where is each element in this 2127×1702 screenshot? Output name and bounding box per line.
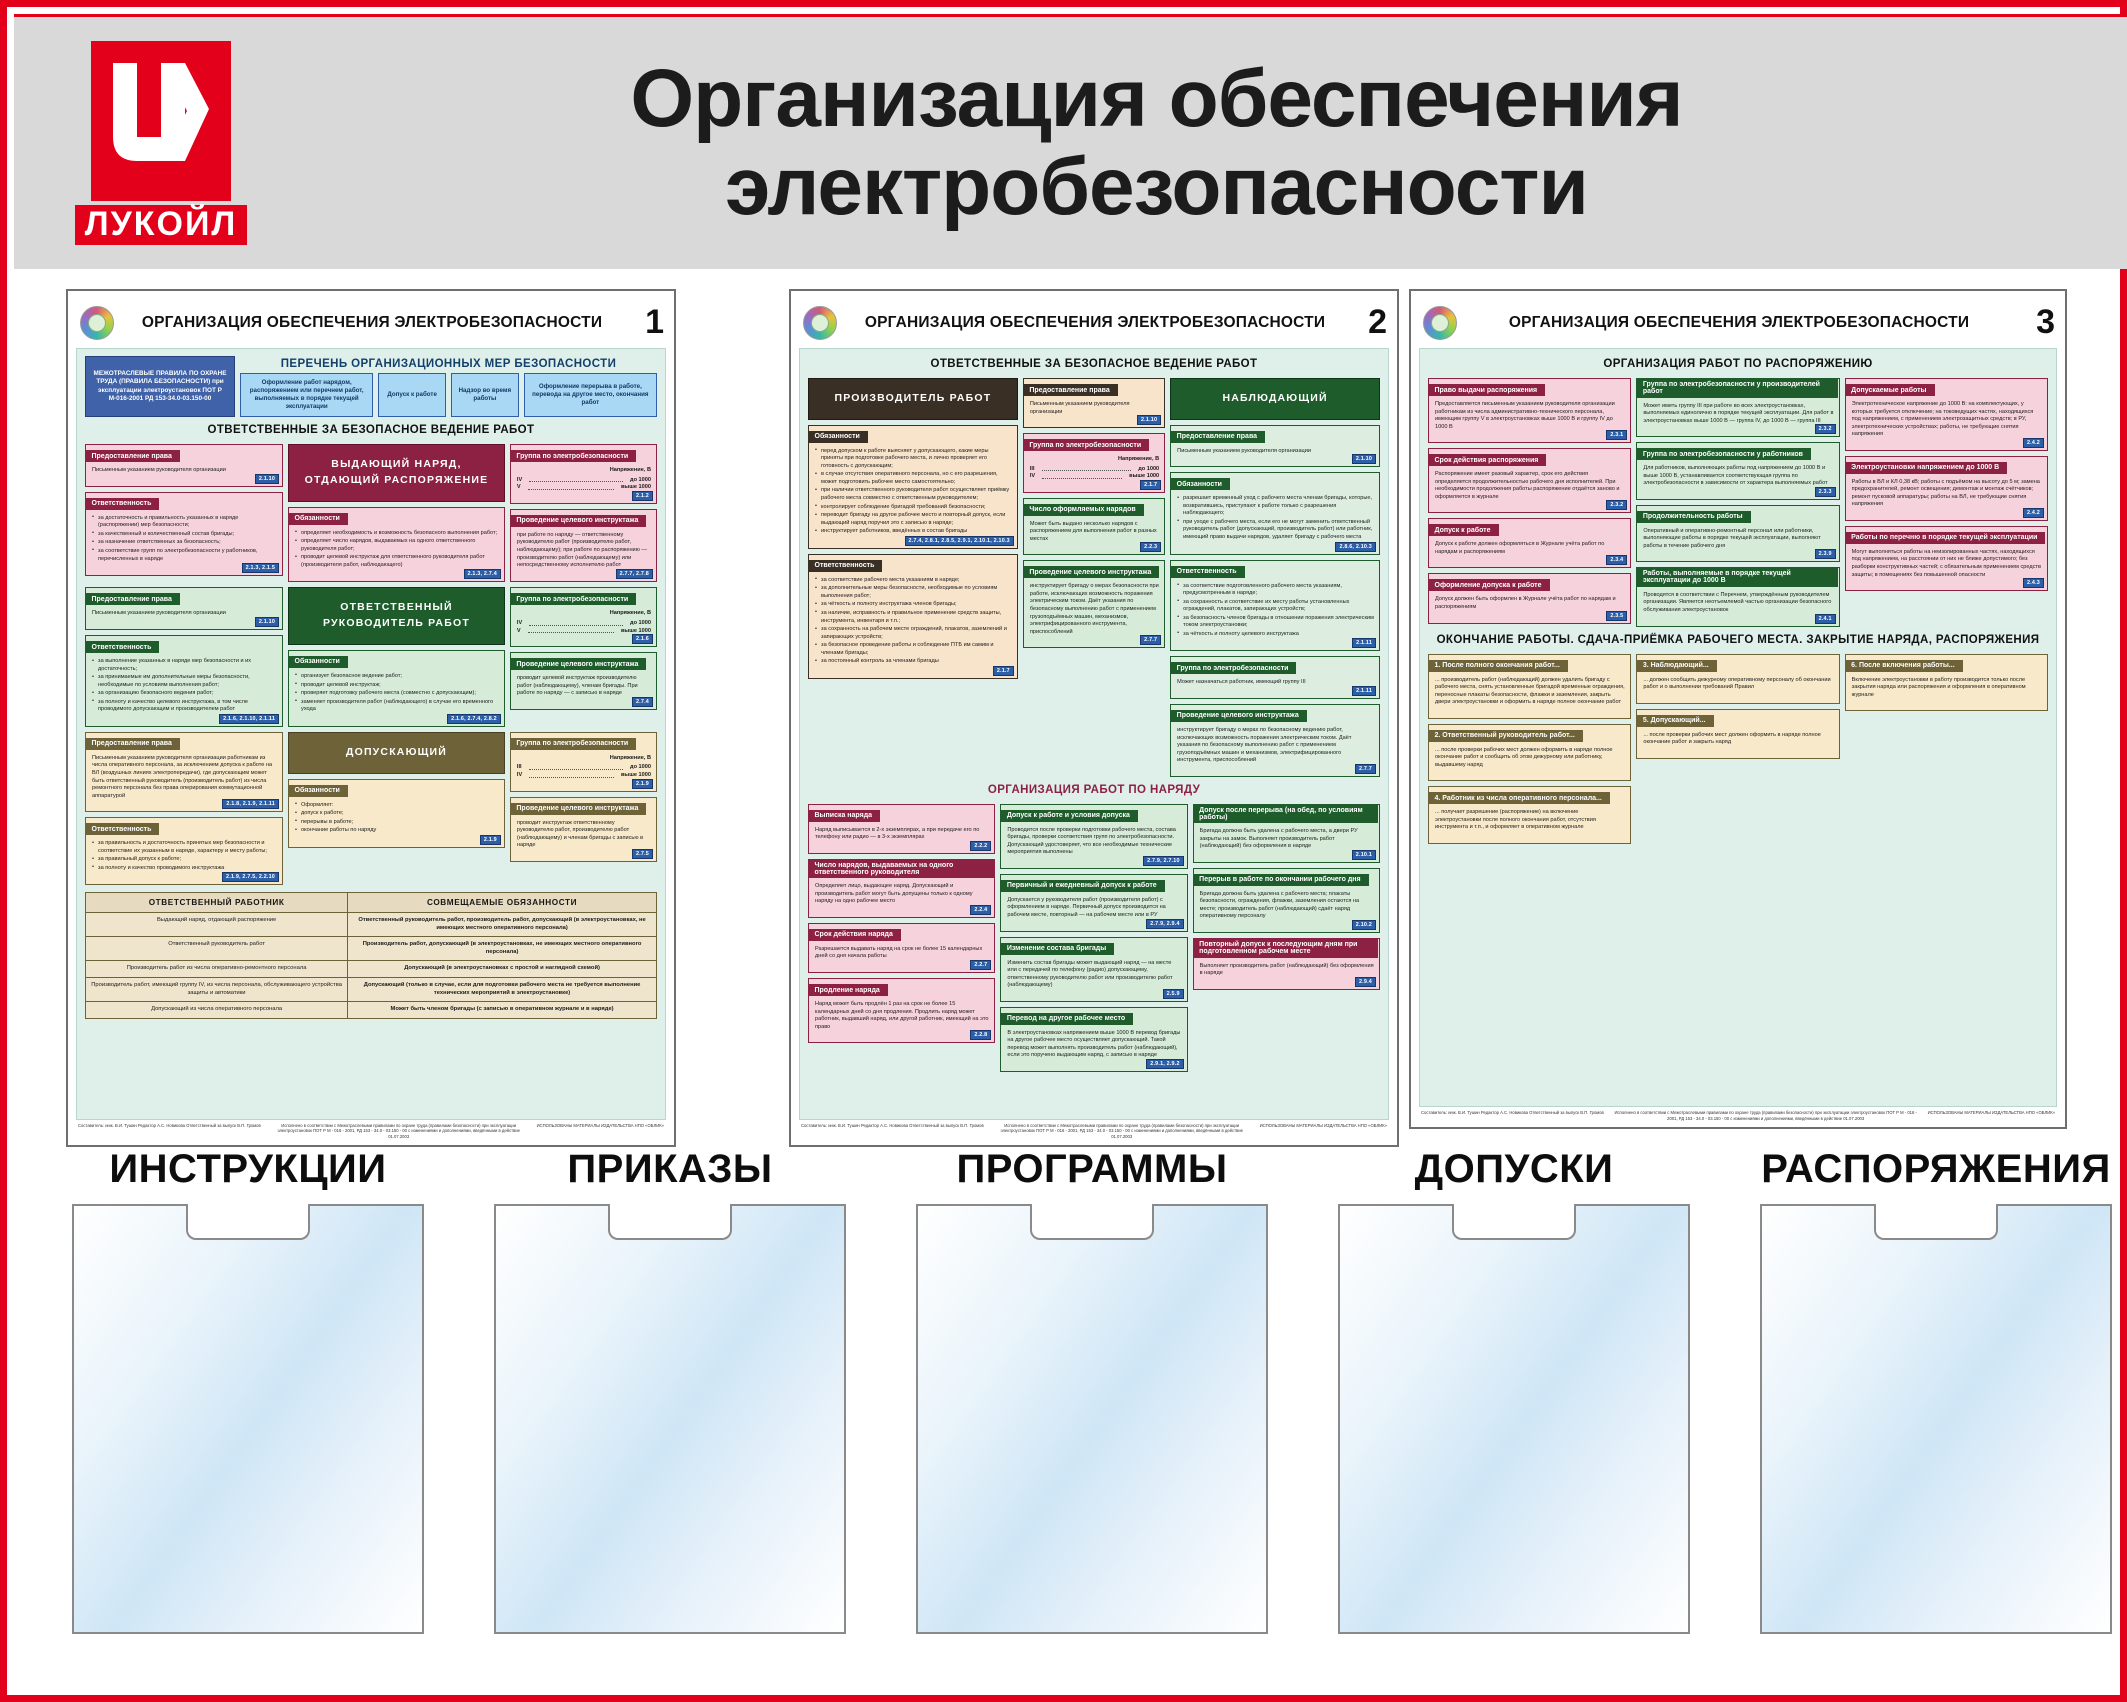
- list-item: Оформляет:: [295, 802, 499, 810]
- group-card: Группа по электробезопасности Может назн…: [1170, 656, 1380, 699]
- card-header: Допускаемые работы: [1845, 384, 1934, 396]
- clause-ref: 2.1.6, 2.1.10, 2.1.11: [219, 714, 279, 724]
- card-header: 5. Допускающий...: [1637, 715, 1714, 727]
- card-body: Распоряжение имеет разовый характер, сро…: [1429, 467, 1630, 512]
- clause-ref: 2.4.2: [2023, 438, 2044, 448]
- combined-duties-table: ОТВЕТСТВЕННЫЙ РАБОТНИК СОВМЕЩАЕМЫЕ ОБЯЗА…: [85, 892, 657, 1018]
- table-header-cell: СОВМЕЩАЕМЫЕ ОБЯЗАННОСТИ: [348, 893, 656, 912]
- pocket-label: ИНСТРУКЦИИ: [72, 1147, 424, 1192]
- list-item: разрешает временный уход с рабочего мест…: [1177, 495, 1374, 518]
- card-body: Могут выполняться работы на неизолирован…: [1846, 545, 2047, 590]
- pocket-slot[interactable]: [1760, 1204, 2112, 1634]
- card-header: Проведение целевого инструктажа: [1171, 710, 1307, 722]
- rasp-card: Право выдачи распоряжения Предоставляетс…: [1428, 378, 1631, 443]
- footer-regulation: Исполнено в соответствии с Межотраслевым…: [261, 1123, 537, 1139]
- end-card: 1. После полного окончания работ... ... …: [1428, 654, 1631, 719]
- card-header: Группа по электробезопасности: [510, 738, 636, 750]
- list-item: за полноту и качество проводимого инстру…: [92, 865, 277, 873]
- role-block: Предоставление права Письменным указание…: [85, 444, 657, 582]
- briefing-card: Проведение целевого инструктажа инструкт…: [1023, 560, 1165, 648]
- rasp-card: Срок действия распоряжения Распоряжение …: [1428, 448, 1631, 513]
- poster-3-footer: Составитель: инж. В.И. Тушин Редактор А.…: [1419, 1107, 2057, 1121]
- end-card: 2. Ответственный руководитель работ... .…: [1428, 724, 1631, 782]
- right-card: Предоставление права Письменным указание…: [1170, 425, 1380, 468]
- card-header: Электроустановки напряжением до 1000 В: [1845, 462, 2007, 474]
- card-body: ... производитель работ (наблюдающий) до…: [1429, 673, 1630, 718]
- card-body: Проводятся в соответствии с Перечнем, ут…: [1637, 588, 1838, 626]
- clause-ref: 2.9.4: [1355, 977, 1376, 987]
- poster-1-head: ОРГАНИЗАЦИЯ ОБЕСПЕЧЕНИЯ ЭЛЕКТРОБЕЗОПАСНО…: [76, 299, 666, 348]
- clause-ref: 2.10.2: [1352, 920, 1376, 930]
- clause-ref: 2.1.3, 2.1.5: [242, 563, 279, 573]
- list-item: за чёткость и полноту инструктажа членов…: [815, 601, 1012, 609]
- group-voltage: до 1000: [1138, 466, 1159, 474]
- measure-item: Оформление работ нарядом, распоряжением …: [240, 373, 373, 417]
- pocket-label: ПРИКАЗЫ: [494, 1147, 846, 1192]
- footer-credits: Составитель: инж. В.И. Тушин Редактор А.…: [1421, 1110, 1604, 1115]
- card-header: 2. Ответственный руководитель работ...: [1429, 730, 1583, 742]
- clause-ref: 2.2.7: [970, 960, 991, 970]
- poster-2-title: ОРГАНИЗАЦИЯ ОБЕСПЕЧЕНИЯ ЭЛЕКТРОБЕЗОПАСНО…: [847, 314, 1343, 332]
- clause-ref: 2.3.3: [1815, 487, 1836, 497]
- clause-ref: 2.10.1: [1352, 850, 1376, 860]
- footer-credits: Составитель: инж. В.И. Тушин Редактор А.…: [801, 1123, 984, 1128]
- clause-ref: 2.4.2: [2023, 508, 2044, 518]
- naryad-card: Допуск после перерыва (на обед, по услов…: [1193, 804, 1380, 863]
- card-header: 6. После включения работы...: [1845, 660, 1963, 672]
- right-card: Предоставление права Письменным указание…: [85, 444, 283, 487]
- table-header-cell: ОТВЕТСТВЕННЫЙ РАБОТНИК: [86, 893, 348, 912]
- briefing-card: Проведение целевого инструктажа при рабо…: [510, 509, 657, 582]
- group-roman: V: [517, 628, 521, 636]
- rasporyazhenie-title: ОРГАНИЗАЦИЯ РАБОТ ПО РАСПОРЯЖЕНИЮ: [1428, 356, 2048, 373]
- pocket-slot[interactable]: [1338, 1204, 1690, 1634]
- card-header: Допуск к работе: [1429, 524, 1499, 536]
- clause-ref: 2.3.5: [1606, 611, 1627, 621]
- rasp-card: Допуск к работе Допуск к работе должен о…: [1428, 518, 1631, 568]
- board-header: ЛУКОЙЛ Организация обеспечения электробе…: [14, 14, 2127, 269]
- clause-ref: 2.1.6: [632, 634, 653, 644]
- clause-ref: 2.2.8: [970, 1030, 991, 1040]
- responsibility-list: за соответствие подготовленного рабочего…: [1177, 583, 1374, 639]
- rasp-card: Группа по электробезопасности у производ…: [1636, 378, 1839, 437]
- naryad-section-title: ОРГАНИЗАЦИЯ РАБОТ ПО НАРЯДУ: [808, 782, 1380, 799]
- footer-credits: Составитель: инж. В.И. Тушин Редактор А.…: [78, 1123, 261, 1128]
- poster-2-head: ОРГАНИЗАЦИЯ ОБЕСПЕЧЕНИЯ ЭЛЕКТРОБЕЗОПАСНО…: [799, 299, 1389, 348]
- list-item: перерывы в работе;: [295, 819, 499, 827]
- poster-2[interactable]: ОРГАНИЗАЦИЯ ОБЕСПЕЧЕНИЯ ЭЛЕКТРОБЕЗОПАСНО…: [789, 289, 1399, 1147]
- end-card: 4. Работник из числа оперативного персон…: [1428, 786, 1631, 844]
- clause-ref: 2.7.7, 2.7.8: [616, 569, 653, 579]
- list-item: за чёткость и полноту целевого инструкта…: [1177, 631, 1374, 639]
- card-header: Группа по электробезопасности: [510, 450, 636, 462]
- table-cell: Производитель работ, допускающий (в элек…: [348, 937, 656, 960]
- role-bar: ОТВЕТСТВЕННЫЙ РУКОВОДИТЕЛЬ РАБОТ: [288, 587, 505, 645]
- card-header: Число нарядов, выдаваемых на одного отве…: [809, 859, 994, 878]
- rasp-card: Группа по электробезопасности у работник…: [1636, 442, 1839, 500]
- end-of-work-grid: 1. После полного окончания работ... ... …: [1428, 654, 2048, 844]
- rasp-card: Оформление допуска к работе Допуск долже…: [1428, 573, 1631, 623]
- list-item: при уходе с рабочего места, если его не …: [1177, 519, 1374, 542]
- clause-ref: 2.1.9, 2.7.5, 2.2.10: [222, 872, 279, 882]
- card-header: Проведение целевого инструктажа: [510, 515, 646, 527]
- footer-publisher: ИСПОЛЬЗОВАНЫ МАТЕРИАЛЫ ИЗДАТЕЛЬСТВА НПО …: [1928, 1110, 2055, 1115]
- clause-ref: 2.1.10: [1137, 415, 1161, 425]
- card-header: Обязанности: [289, 513, 348, 525]
- list-item: за безопасность членов бригады в отношен…: [1177, 615, 1374, 630]
- list-item: за безопасное проведение работы и соблюд…: [815, 642, 1012, 657]
- list-item: за сохранность на рабочем месте огражден…: [815, 626, 1012, 641]
- responsibility-list: за правильность и достаточность принятых…: [92, 840, 277, 872]
- clause-ref: 2.7.7: [1355, 764, 1376, 774]
- duties-card: Обязанности организует безопасное ведени…: [288, 650, 505, 727]
- list-item: за полноту и качество целевого инструкта…: [92, 699, 277, 714]
- naryad-card: Перевод на другое рабочее место В электр…: [1000, 1007, 1187, 1072]
- naryad-card: Перерыв в работе по окончании рабочего д…: [1193, 868, 1380, 933]
- list-item: инструктирует работников, введённых в со…: [815, 528, 1012, 536]
- clause-ref: 2.9.1, 2.9.2: [1146, 1059, 1183, 1069]
- card-header: Проведение целевого инструктажа: [510, 803, 646, 815]
- table-cell: Допускающий из числа оперативного персон…: [86, 1002, 348, 1018]
- card-header: Выписка наряда: [809, 810, 881, 822]
- table-cell: Производитель работ из числа оперативно-…: [86, 961, 348, 977]
- clause-ref: 2.1.10: [255, 474, 279, 484]
- rasporyazhenie-grid: Право выдачи распоряжения Предоставляетс…: [1428, 378, 2048, 627]
- card-body: Письменным указанием руководителя органи…: [86, 606, 282, 629]
- group-roman: IV: [517, 772, 522, 780]
- list-item: организует безопасное ведение работ;: [295, 673, 499, 681]
- role-bar: ПРОИЗВОДИТЕЛЬ РАБОТ: [808, 378, 1018, 420]
- responsibility-list: за выполнение указанных в наряде мер без…: [92, 658, 277, 714]
- end-card: 6. После включения работы... Включение э…: [1845, 654, 2048, 712]
- card-body: Письменным указанием руководителя органи…: [1171, 444, 1379, 467]
- clause-ref: 2.3.1: [1606, 430, 1627, 440]
- responsibility-list: за достаточность и правильность указанны…: [92, 515, 277, 563]
- card-header: Проведение целевого инструктажа: [1023, 566, 1159, 578]
- card-body: Разрешается выдавать наряд на срок не бо…: [809, 942, 994, 972]
- card-header: Группа по электробезопасности: [1171, 662, 1297, 674]
- group-card: Группа по электробезопасности Напряжение…: [1023, 433, 1165, 493]
- card-header: Обязанности: [289, 785, 348, 797]
- safety-emblem-icon: [1423, 306, 1457, 340]
- rasp-card: Продолжительность работы Оперативный и о…: [1636, 505, 1839, 563]
- card-body: Допуск к работе должен оформляться в Жур…: [1429, 537, 1630, 567]
- role-block: Предоставление права Письменным указание…: [85, 587, 657, 726]
- card-header: 4. Работник из числа оперативного персон…: [1429, 792, 1610, 804]
- card-header: Допуск после перерыва (на обед, по услов…: [1193, 804, 1378, 823]
- safety-emblem-icon: [80, 306, 114, 340]
- card-header: Перерыв в работе по окончании рабочего д…: [1193, 874, 1368, 886]
- card-header: Группа по электробезопасности: [510, 593, 636, 605]
- card-body: Может назначаться работник, имеющий груп…: [1171, 675, 1379, 698]
- clause-ref: 2.7.9, 2.9.4: [1146, 919, 1183, 929]
- list-item: за организацию безопасного ведения работ…: [92, 690, 277, 698]
- clause-ref: 2.4.3: [2023, 578, 2044, 588]
- clause-ref: 2.7.9, 2.7.10: [1143, 856, 1184, 866]
- voltage-label: Напряжение, В: [517, 610, 651, 618]
- list-item: за сохранность и соответствие их месту р…: [1177, 599, 1374, 614]
- list-item: за выполнение указанных в наряде мер без…: [92, 658, 277, 673]
- clause-ref: 2.8.6, 2.10.3: [1335, 542, 1376, 552]
- list-item: в случае отсутствия оперативного персона…: [815, 471, 1012, 486]
- measure-item: Допуск к работе: [378, 373, 446, 417]
- naryad-card: Первичный и ежедневный допуск к работе Д…: [1000, 874, 1187, 932]
- rasp-card: Допускаемые работы Электротехническое на…: [1845, 378, 2048, 451]
- measures-row: МЕЖОТРАСЛЕВЫЕ ПРАВИЛА ПО ОХРАНЕ ТРУДА (П…: [85, 356, 657, 417]
- card-body: Допуск должен быть оформлен в Журнале уч…: [1429, 592, 1630, 622]
- card-header: Продление наряда: [809, 984, 888, 996]
- list-item: определяет число нарядов, выдаваемых на …: [295, 538, 499, 553]
- responsibility-card: Ответственность за выполнение указанных …: [85, 635, 283, 727]
- naryad-card: Повторный допуск к последующим дням при …: [1193, 938, 1380, 990]
- card-body: Определяет лицо, выдающее наряд. Допуска…: [809, 879, 994, 917]
- card-body: Работы в ВЛ и КЛ 0,38 кВ; работы с подъё…: [1846, 475, 2047, 520]
- safety-emblem-icon: [803, 306, 837, 340]
- page-title-line-1: Организация обеспечения: [276, 55, 2037, 143]
- group-roman: V: [517, 484, 521, 492]
- clause-ref: 2.1.3, 2.7.4: [464, 569, 501, 579]
- duties-list: перед допуском к работе выясняет у допус…: [815, 448, 1012, 536]
- duties-card: Обязанности Оформляет: допуск к работе; …: [288, 779, 505, 848]
- group-card: Группа по электробезопасности Напряжение…: [510, 587, 657, 647]
- card-header: Ответственность: [86, 641, 160, 653]
- footer-regulation: Исполнено в соответствии с Межотраслевым…: [1604, 1110, 1928, 1121]
- table-cell: Ответственный руководитель работ, произв…: [348, 913, 656, 936]
- naryad-card: Срок действия наряда Разрешается выдават…: [808, 923, 995, 973]
- list-item: определяет необходимость и возможность б…: [295, 530, 499, 538]
- list-item: допуск к работе;: [295, 810, 499, 818]
- right-card: Предоставление права Письменным указание…: [1023, 378, 1165, 428]
- responsibility-card: Ответственность за соответствие подготов…: [1170, 560, 1380, 652]
- list-item: за дополнительные меры безопасности, нео…: [815, 585, 1012, 600]
- list-item: за соответствие подготовленного рабочего…: [1177, 583, 1374, 598]
- poster-1[interactable]: ОРГАНИЗАЦИЯ ОБЕСПЕЧЕНИЯ ЭЛЕКТРОБЕЗОПАСНО…: [66, 289, 676, 1147]
- card-header: Первичный и ежедневный допуск к работе: [1001, 880, 1165, 892]
- clause-ref: 2.4.1: [1815, 614, 1836, 624]
- table-row: Производитель работ, имеющий группу IV, …: [86, 978, 656, 1002]
- page-title: Организация обеспечения электробезопасно…: [276, 55, 2127, 230]
- pocket-slot[interactable]: [72, 1204, 424, 1634]
- clause-ref: 2.7.5: [632, 849, 653, 859]
- table-cell: Ответственный руководитель работ: [86, 937, 348, 960]
- clause-ref: 2.1.10: [255, 617, 279, 627]
- naryad-grid: Выписка наряда Наряд выписывается в 2-х …: [808, 804, 1380, 1072]
- card-header: 3. Наблюдающий...: [1637, 660, 1717, 672]
- clause-ref: 2.1.8, 2.1.9, 2.1.11: [222, 799, 279, 809]
- right-card: Предоставление права Письменным указание…: [85, 732, 283, 812]
- list-item: при наличии ответственного руководителя …: [815, 487, 1012, 502]
- lukoil-logo-mark: [91, 41, 231, 201]
- card-header: Проведение целевого инструктажа: [510, 658, 646, 670]
- pocket-label: ДОПУСКИ: [1338, 1147, 1690, 1192]
- clause-ref: 2.1.10: [1352, 454, 1376, 464]
- poster-3-title: ОРГАНИЗАЦИЯ ОБЕСПЕЧЕНИЯ ЭЛЕКТРОБЕЗОПАСНО…: [1467, 314, 2011, 332]
- responsible-title: ОТВЕТСТВЕННЫЕ ЗА БЕЗОПАСНОЕ ВЕДЕНИЕ РАБО…: [85, 422, 657, 439]
- card-header: 1. После полного окончания работ...: [1429, 660, 1568, 672]
- card-header: Предоставление права: [86, 450, 180, 462]
- list-item: за принимаемые им дополнительные меры бе…: [92, 674, 277, 689]
- rasp-card: Работы по перечню в порядке текущей эксп…: [1845, 526, 2048, 591]
- group-roman: III: [517, 764, 522, 772]
- list-item: за правильный допуск к работе;: [92, 856, 277, 864]
- poster-3[interactable]: ОРГАНИЗАЦИЯ ОБЕСПЕЧЕНИЯ ЭЛЕКТРОБЕЗОПАСНО…: [1409, 289, 2067, 1129]
- card-header: Группа по электробезопасности у работник…: [1637, 448, 1811, 460]
- table-row: Допускающий из числа оперативного персон…: [86, 1002, 656, 1018]
- card-header: Повторный допуск к последующим дням при …: [1193, 939, 1378, 958]
- card-header: Работы по перечню в порядке текущей эксп…: [1845, 532, 2045, 544]
- pocket-label: РАСПОРЯЖЕНИЯ: [1760, 1147, 2112, 1192]
- card-header: Ответственность: [86, 823, 160, 835]
- clause-ref: 2.1.11: [1352, 638, 1376, 648]
- poster-2-body: ОТВЕТСТВЕННЫЕ ЗА БЕЗОПАСНОЕ ВЕДЕНИЕ РАБО…: [799, 348, 1389, 1120]
- card-body: Выполняет производитель работ (наблюдающ…: [1194, 959, 1379, 989]
- card-header: Предоставление права: [1023, 384, 1117, 396]
- list-item: переводит бригаду на другое рабочее мест…: [815, 512, 1012, 527]
- pocket-prikazy[interactable]: ПРИКАЗЫ: [494, 1147, 846, 1634]
- poster-1-number: 1: [630, 303, 664, 342]
- page-title-line-2: электробезопасности: [276, 143, 2037, 231]
- list-item: проводит целевой инструктаж для ответств…: [295, 554, 499, 569]
- card-body: Изменить состав бригады может выдающий н…: [1001, 956, 1186, 1001]
- pocket-slot[interactable]: [494, 1204, 846, 1634]
- clause-ref: 2.3.2: [1815, 424, 1836, 434]
- card-header: Ответственность: [809, 560, 883, 572]
- card-header: Число оформляемых нарядов: [1023, 504, 1143, 516]
- list-item: перед допуском к работе выясняет у допус…: [815, 448, 1012, 471]
- naryad-card: Число нарядов, выдаваемых на одного отве…: [808, 859, 995, 918]
- clause-ref: 2.1.7: [993, 666, 1014, 676]
- pocket-rasporyazheniya[interactable]: РАСПОРЯЖЕНИЯ: [1760, 1147, 2112, 1634]
- pocket-instrukcii[interactable]: ИНСТРУКЦИИ: [72, 1147, 424, 1634]
- table-cell: Допускающий (только в случае, если для п…: [348, 978, 656, 1001]
- rasp-card: Работы, выполняемые в порядке текущей эк…: [1636, 567, 1839, 626]
- naryad-count-card: Число оформляемых нарядов Может быть выд…: [1023, 498, 1165, 556]
- responsibility-card: Ответственность за правильность и достат…: [85, 817, 283, 885]
- right-card: Предоставление права Письменным указание…: [85, 587, 283, 630]
- table-row: Ответственный руководитель работ Произво…: [86, 937, 656, 961]
- table-cell: Производитель работ, имеющий группу IV, …: [86, 978, 348, 1001]
- clause-ref: 2.3.4: [1606, 555, 1627, 565]
- list-item: за постоянный контроль за членами бригад…: [815, 658, 1012, 666]
- responsibility-card: Ответственность за соответствие рабочего…: [808, 554, 1018, 679]
- table-row: Производитель работ из числа оперативно-…: [86, 961, 656, 978]
- pocket-slot[interactable]: [916, 1204, 1268, 1634]
- card-body: Электротехническое напряжение до 1000 В:…: [1846, 397, 2047, 450]
- briefing-card: Проведение целевого инструктажа проводит…: [510, 797, 657, 862]
- list-item: проверяет подготовку рабочего места (сов…: [295, 690, 499, 698]
- end-of-work-title: ОКОНЧАНИЕ РАБОТЫ. СДАЧА-ПРИЁМКА РАБОЧЕГО…: [1428, 632, 2048, 649]
- card-header: Предоставление права: [1171, 431, 1265, 443]
- role-block: ПРОИЗВОДИТЕЛЬ РАБОТ Обязанности перед до…: [808, 378, 1380, 777]
- list-item: за назначение ответственных за безопасно…: [92, 539, 277, 547]
- information-board: ЛУКОЙЛ Организация обеспечения электробе…: [0, 0, 2127, 1702]
- naryad-card: Допуск к работе и условия допуска Провод…: [1000, 804, 1187, 869]
- responsibility-card: Ответственность за достаточность и прави…: [85, 492, 283, 576]
- naryad-card: Выписка наряда Наряд выписывается в 2-х …: [808, 804, 995, 854]
- duties-list: организует безопасное ведение работ; про…: [295, 673, 499, 714]
- card-header: Работы, выполняемые в порядке текущей эк…: [1637, 568, 1838, 587]
- naryad-card: Продление наряда Наряд может быть продлё…: [808, 978, 995, 1043]
- posters-row: ОРГАНИЗАЦИЯ ОБЕСПЕЧЕНИЯ ЭЛЕКТРОБЕЗОПАСНО…: [14, 275, 2127, 1145]
- naryad-card: Изменение состава бригады Изменить соста…: [1000, 937, 1187, 1002]
- clause-ref: 2.7.4, 2.8.1, 2.8.5, 2.9.1, 2.10.1, 2.10…: [905, 536, 1014, 546]
- clause-ref: 2.1.7: [1140, 480, 1161, 490]
- footer-regulation: Исполнено в соответствии с Межотраслевым…: [984, 1123, 1260, 1139]
- card-header: Ответственность: [86, 498, 160, 510]
- role-bar: ДОПУСКАЮЩИЙ: [288, 732, 505, 774]
- poster-2-number: 2: [1353, 303, 1387, 342]
- pocket-programmy[interactable]: ПРОГРАММЫ: [916, 1147, 1268, 1634]
- table-cell: Допускающий (в электроустановках с прост…: [348, 961, 656, 977]
- group-voltage: до 1000: [630, 764, 651, 772]
- poster-3-body: ОРГАНИЗАЦИЯ РАБОТ ПО РАСПОРЯЖЕНИЮ Право …: [1419, 348, 2057, 1107]
- card-header: Срок действия распоряжения: [1429, 454, 1547, 466]
- poster-3-head: ОРГАНИЗАЦИЯ ОБЕСПЕЧЕНИЯ ЭЛЕКТРОБЕЗОПАСНО…: [1419, 299, 2057, 348]
- duties-card: Обязанности перед допуском к работе выяс…: [808, 425, 1018, 549]
- document-pockets: ИНСТРУКЦИИ ПРИКАЗЫ ПРОГРАММЫ ДОПУСКИ РАС…: [14, 1147, 2127, 1702]
- clause-ref: 2.1.6, 2.7.4, 2.8.2: [447, 714, 501, 724]
- card-body: Письменным указанием руководителя органи…: [86, 463, 282, 486]
- role-block: Предоставление права Письменным указание…: [85, 732, 657, 885]
- card-header: Группа по электробезопасности: [1023, 439, 1149, 451]
- clause-ref: 2.7.4: [632, 697, 653, 707]
- card-header: Срок действия наряда: [809, 929, 901, 941]
- card-body: Включение электроустановки в работу прои…: [1846, 673, 2047, 711]
- card-header: Обязанности: [1171, 478, 1230, 490]
- lukoil-logo: ЛУКОЙЛ: [46, 41, 276, 245]
- card-body: Может иметь группу III при работе во все…: [1637, 399, 1838, 437]
- briefing-card: Проведение целевого инструктажа инструкт…: [1170, 704, 1380, 777]
- list-item: за достаточность и правильность указанны…: [92, 515, 277, 530]
- clause-ref: 2.1.9: [632, 779, 653, 789]
- responsible-title: ОТВЕТСТВЕННЫЕ ЗА БЕЗОПАСНОЕ ВЕДЕНИЕ РАБО…: [808, 356, 1380, 373]
- duties-list: разрешает временный уход с рабочего мест…: [1177, 495, 1374, 541]
- card-header: Предоставление права: [86, 593, 180, 605]
- clause-ref: 2.1.11: [1352, 686, 1376, 696]
- table-row: Выдающий наряд, отдающий распоряжение От…: [86, 913, 656, 937]
- card-body: ... после проверки рабочих мест должен о…: [1429, 743, 1630, 781]
- card-header: Продолжительность работы: [1637, 511, 1751, 523]
- card-header: Ответственность: [1171, 566, 1245, 578]
- clause-ref: 2.2.2: [970, 841, 991, 851]
- card-body: ... получает разрешение (распоряжение) н…: [1429, 805, 1630, 843]
- table-cell: Выдающий наряд, отдающий распоряжение: [86, 913, 348, 936]
- list-item: проводит целевой инструктаж;: [295, 682, 499, 690]
- footer-publisher: ИСПОЛЬЗОВАНЫ МАТЕРИАЛЫ ИЗДАТЕЛЬСТВА НПО …: [537, 1123, 664, 1128]
- card-header: Перевод на другое рабочее место: [1001, 1013, 1133, 1025]
- list-item: заменяет производителя работ (наблюдающе…: [295, 699, 499, 714]
- end-card: 5. Допускающий... ... после проверки раб…: [1636, 709, 1839, 759]
- card-body: ... должен сообщить дежурному оперативно…: [1637, 673, 1838, 703]
- group-roman: IV: [1030, 473, 1035, 481]
- duties-card: Обязанности определяет необходимость и в…: [288, 507, 505, 583]
- table-cell: Может быть членом бригады (с записью в о…: [348, 1002, 656, 1018]
- clause-ref: 2.1.9: [480, 835, 501, 845]
- group-voltage: до 1000: [630, 620, 651, 628]
- card-body: Оперативный и оперативно-ремонтный персо…: [1637, 524, 1838, 562]
- responsibility-list: за соответствие рабочего места указаниям…: [815, 577, 1012, 666]
- voltage-label: Напряжение, В: [517, 467, 651, 475]
- role-bar: ВЫДАЮЩИЙ НАРЯД, ОТДАЮЩИЙ РАСПОРЯЖЕНИЕ: [288, 444, 505, 502]
- pocket-dopuski[interactable]: ДОПУСКИ: [1338, 1147, 1690, 1634]
- card-body: Наряд может быть продлён 1 раз на срок н…: [809, 997, 994, 1042]
- duties-list: Оформляет: допуск к работе; перерывы в р…: [295, 802, 499, 835]
- card-header: Предоставление права: [86, 738, 180, 750]
- group-voltage: до 1000: [630, 477, 651, 485]
- rasp-card: Электроустановки напряжением до 1000 В Р…: [1845, 456, 2048, 521]
- card-header: Допуск к работе и условия допуска: [1001, 810, 1138, 822]
- measure-item: Оформление перерыва в работе, перевода н…: [524, 373, 657, 417]
